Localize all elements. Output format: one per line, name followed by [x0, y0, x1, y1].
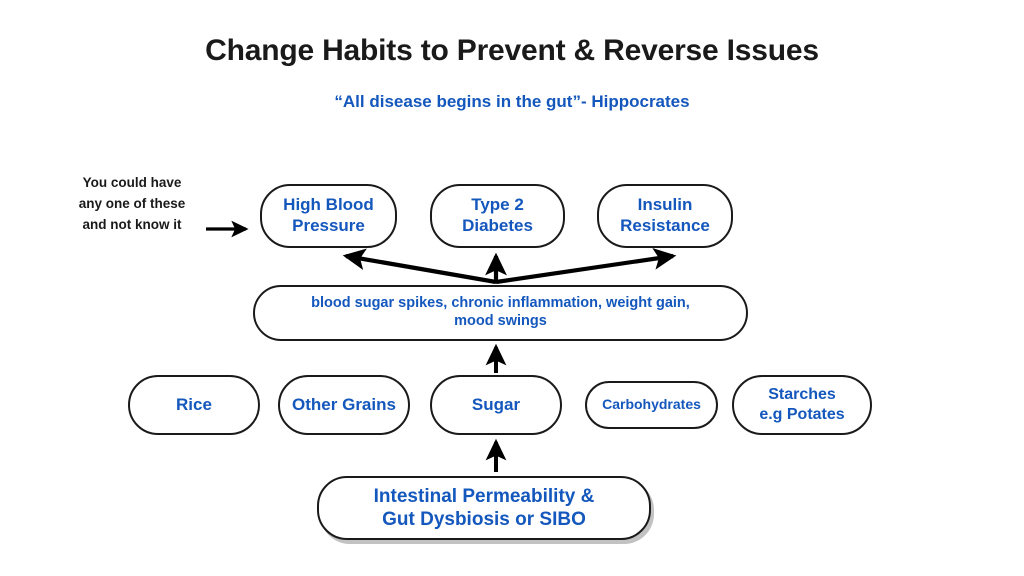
node-sugar[interactable]: Sugar — [430, 375, 562, 435]
node-label-line-1: High Blood — [283, 195, 374, 216]
annotation-line-3: and not know it — [62, 214, 202, 235]
node-root-cause[interactable]: Intestinal Permeability & Gut Dysbiosis … — [317, 476, 651, 540]
node-label-line-2: Gut Dysbiosis or SIBO — [374, 508, 595, 531]
page-subtitle: “All disease begins in the gut”- Hippocr… — [0, 92, 1024, 112]
arrow-symptoms-to-high-blood-pressure — [346, 256, 496, 282]
node-insulin-resistance[interactable]: Insulin Resistance — [597, 184, 733, 248]
node-symptoms[interactable]: blood sugar spikes, chronic inflammation… — [253, 285, 748, 341]
node-label-line-1: Rice — [176, 395, 212, 416]
node-label-line-2: Diabetes — [462, 216, 533, 237]
annotation-line-2: any one of these — [62, 193, 202, 214]
node-label-line-2: e.g Potates — [759, 405, 844, 425]
node-carbohydrates[interactable]: Carbohydrates — [585, 381, 718, 429]
annotation-line-1: You could have — [62, 172, 202, 193]
node-label-line-1: Carbohydrates — [602, 396, 701, 413]
node-label-line-1: blood sugar spikes, chronic inflammation… — [311, 295, 690, 313]
node-label-line-2: Resistance — [620, 216, 710, 237]
node-label-line-1: Sugar — [472, 395, 520, 416]
page-title: Change Habits to Prevent & Reverse Issue… — [0, 34, 1024, 68]
arrow-symptoms-to-insulin-resistance — [496, 256, 673, 282]
node-label-line-1: Type 2 — [462, 195, 533, 216]
node-label-line-2: Pressure — [283, 216, 374, 237]
node-label-line-1: Insulin — [620, 195, 710, 216]
node-type-2-diabetes[interactable]: Type 2 Diabetes — [430, 184, 565, 248]
diagram-canvas: Change Habits to Prevent & Reverse Issue… — [0, 0, 1024, 576]
node-rice[interactable]: Rice — [128, 375, 260, 435]
node-label-line-1: Other Grains — [292, 395, 396, 416]
node-other-grains[interactable]: Other Grains — [278, 375, 410, 435]
node-starches[interactable]: Starches e.g Potates — [732, 375, 872, 435]
annotation-text: You could have any one of these and not … — [62, 172, 202, 235]
node-label-line-1: Starches — [759, 385, 844, 405]
node-label-line-2: mood swings — [311, 313, 690, 331]
node-label-line-1: Intestinal Permeability & — [374, 485, 595, 508]
node-high-blood-pressure[interactable]: High Blood Pressure — [260, 184, 397, 248]
